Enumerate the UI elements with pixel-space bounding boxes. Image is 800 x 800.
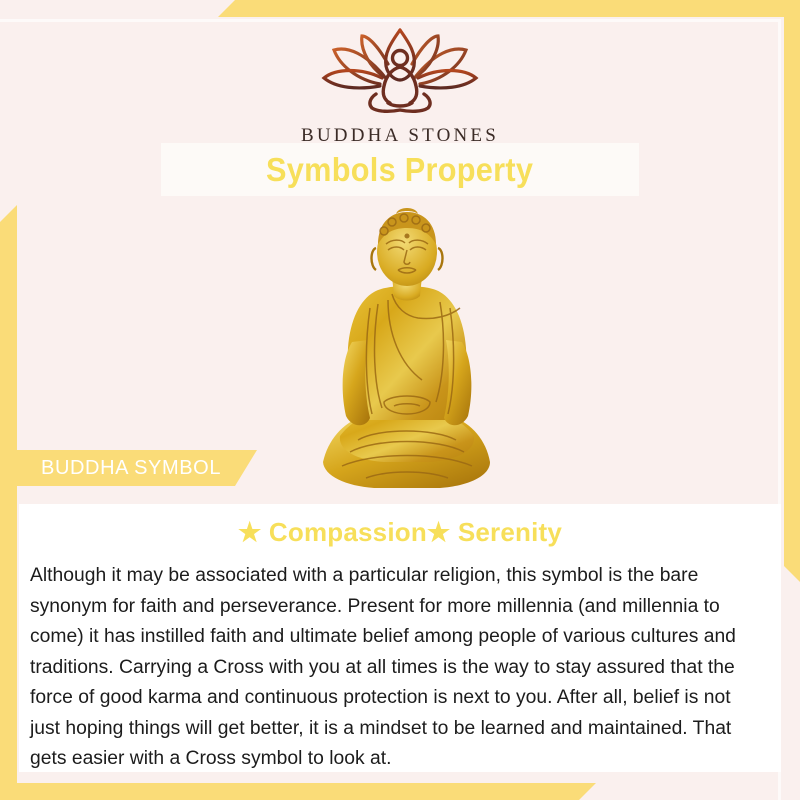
brand-logo: BUDDHA STONES (0, 24, 800, 147)
page-title: Symbols Property (266, 151, 533, 189)
buddha-symbol-badge: BUDDHA SYMBOL (17, 450, 257, 486)
description-panel: ★ Compassion★ Serenity Although it may b… (19, 504, 781, 772)
poster-root: BUDDHA STONES Symbols Property (0, 0, 800, 800)
section-headline: ★ Compassion★ Serenity (19, 517, 781, 548)
poster-content: BUDDHA STONES Symbols Property (0, 0, 800, 800)
title-banner: Symbols Property (161, 143, 639, 196)
lotus-meditation-figure-icon (0, 24, 800, 121)
badge-label: BUDDHA SYMBOL (17, 457, 221, 480)
buddha-statue-illustration (318, 204, 496, 494)
section-body-text: Although it may be associated with a par… (30, 560, 760, 774)
